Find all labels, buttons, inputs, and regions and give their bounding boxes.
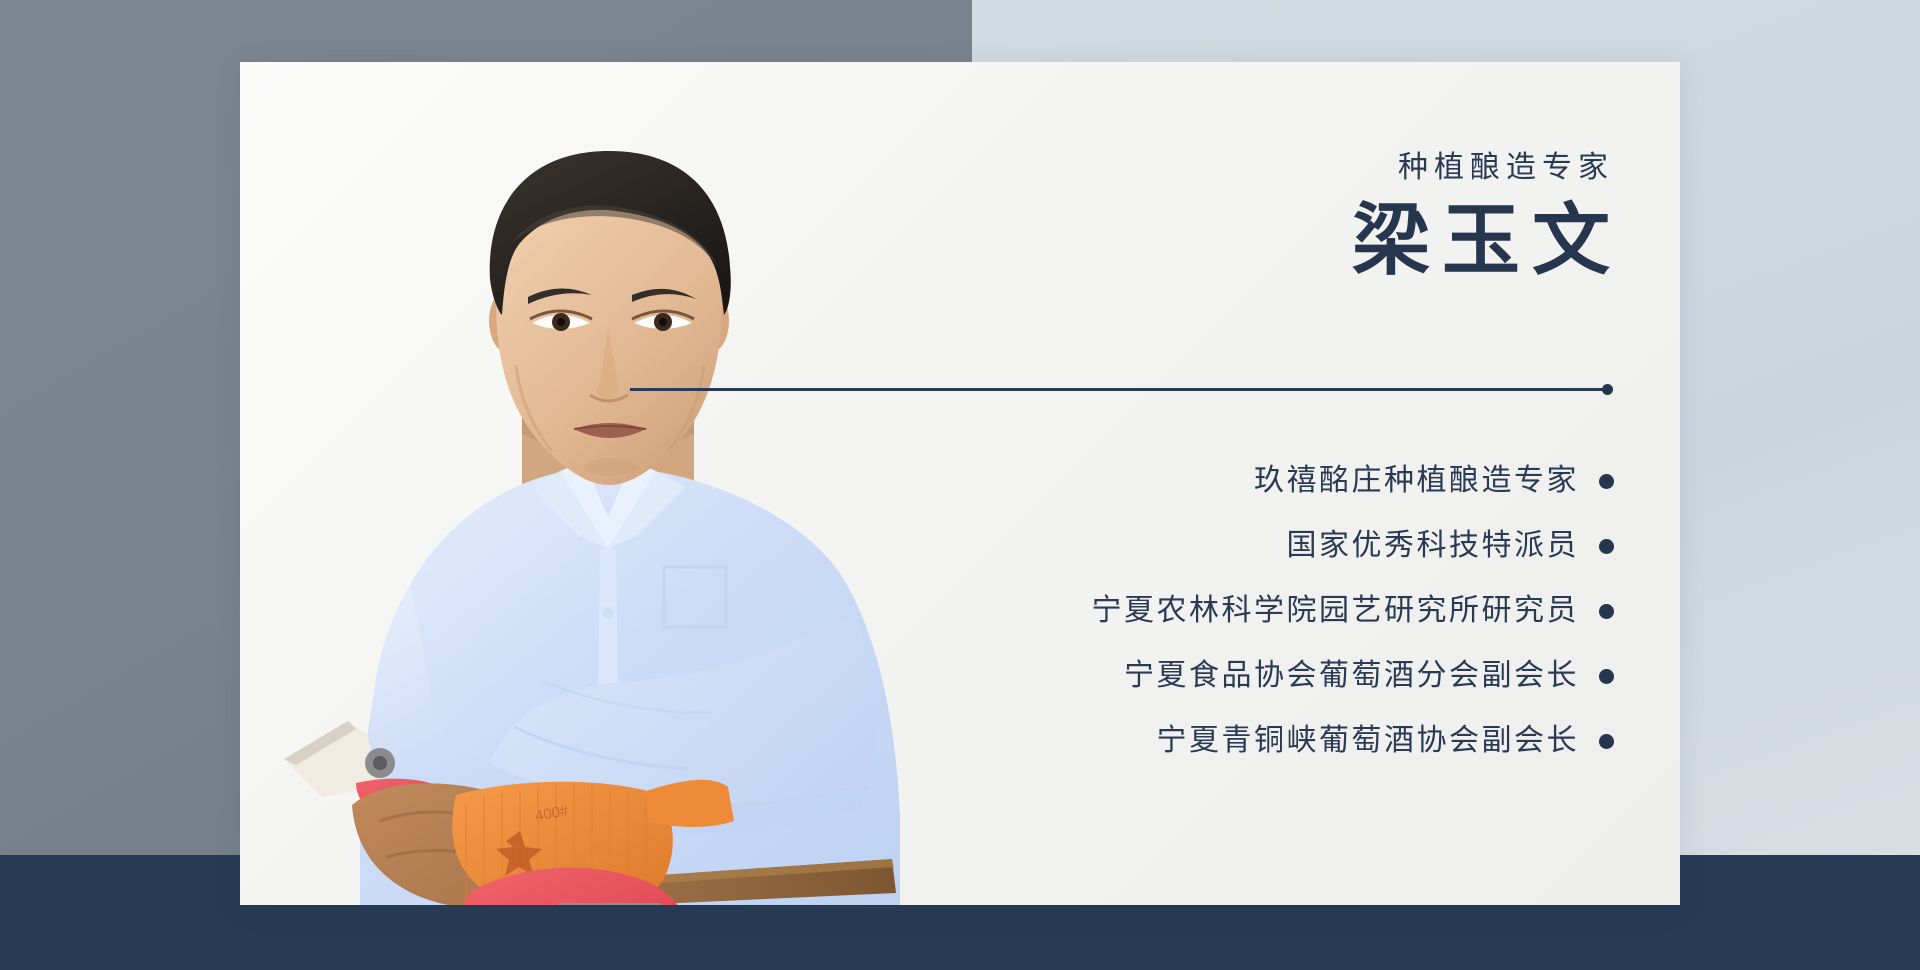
list-item: 宁夏食品协会葡萄酒分会副会长 [794,649,1614,703]
bullet-dot-icon [1599,539,1614,554]
poster-canvas: 400# [0,0,1920,970]
list-item: 宁夏农林科学院园艺研究所研究员 [794,584,1614,638]
person-name: 梁玉文 [914,200,1622,282]
list-item: 玖禧酩庄种植酿造专家 [794,454,1614,508]
divider-line [630,388,1603,391]
divider-end-dot-icon [1602,384,1613,395]
bullet-dot-icon [1599,604,1614,619]
profile-card: 400# [240,62,1680,905]
credential-text: 宁夏青铜峡葡萄酒协会副会长 [1157,726,1580,756]
name-block: 种植酿造专家 梁玉文 [914,150,1614,282]
credential-text: 宁夏农林科学院园艺研究所研究员 [1092,596,1580,626]
bullet-dot-icon [1599,669,1614,684]
list-item: 国家优秀科技特派员 [794,519,1614,573]
bullet-dot-icon [1599,474,1614,489]
bullet-dot-icon [1599,734,1614,749]
divider [630,384,1613,396]
role-label: 种植酿造专家 [914,150,1614,186]
credential-text: 玖禧酩庄种植酿造专家 [1254,466,1579,496]
svg-text:400#: 400# [534,802,570,825]
credentials-list: 玖禧酩庄种植酿造专家 国家优秀科技特派员 宁夏农林科学院园艺研究所研究员 宁夏食… [794,454,1614,779]
credential-text: 宁夏食品协会葡萄酒分会副会长 [1124,661,1579,691]
credential-text: 国家优秀科技特派员 [1287,531,1580,561]
list-item: 宁夏青铜峡葡萄酒协会副会长 [794,714,1614,768]
